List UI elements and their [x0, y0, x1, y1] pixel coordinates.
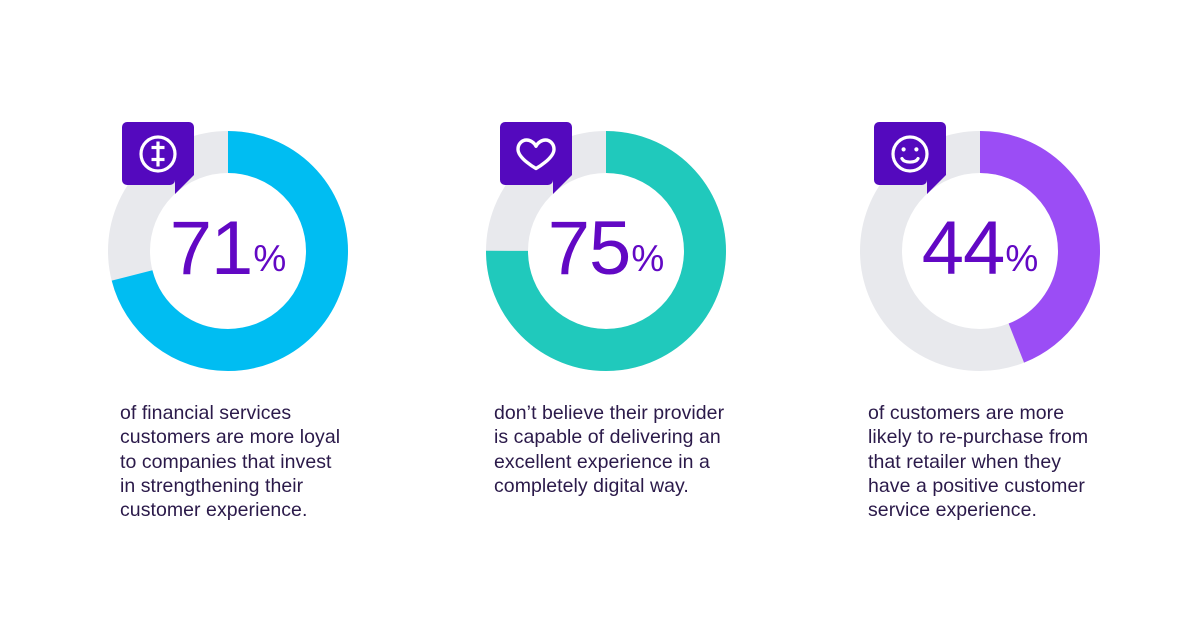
infographic-canvas: 71 % [0, 0, 1200, 628]
badge-bubble-smiley-face [868, 116, 952, 200]
donut-percent-symbol: % [253, 240, 286, 277]
donut-value-number: 44 [922, 218, 1005, 280]
speech-bubble-shape [494, 116, 578, 200]
bubble-tail-body [874, 122, 946, 194]
donut-value-number: 75 [548, 218, 631, 280]
donut-value-number: 71 [170, 218, 253, 280]
badge-bubble-heart [494, 116, 578, 200]
stat-caption: of financial services customers are more… [120, 401, 388, 522]
stat-card-repurchase-intent: 44 % of customer [756, 0, 1116, 628]
donut-chart-financial-services-loyalty: 71 % [108, 131, 348, 371]
donut-percent-symbol: % [1005, 240, 1038, 277]
bubble-tail-body [500, 122, 572, 194]
badge-bubble-dollar-circle [116, 116, 200, 200]
donut-chart-digital-experience-doubt: 75 % [486, 131, 726, 371]
stat-card-digital-experience-doubt: 75 % don’t believe their provider is cap… [382, 0, 742, 628]
stat-card-financial-services-loyalty: 71 % [12, 0, 372, 628]
donut-percent-symbol: % [631, 240, 664, 277]
donut-chart-repurchase-intent: 44 % [860, 131, 1100, 371]
stat-cards-row: 71 % [0, 0, 1200, 628]
speech-bubble-shape [116, 116, 200, 200]
speech-bubble-shape [868, 116, 952, 200]
stat-caption: don’t believe their provider is capable … [494, 401, 766, 498]
stat-caption: of customers are more likely to re-purch… [868, 401, 1140, 522]
